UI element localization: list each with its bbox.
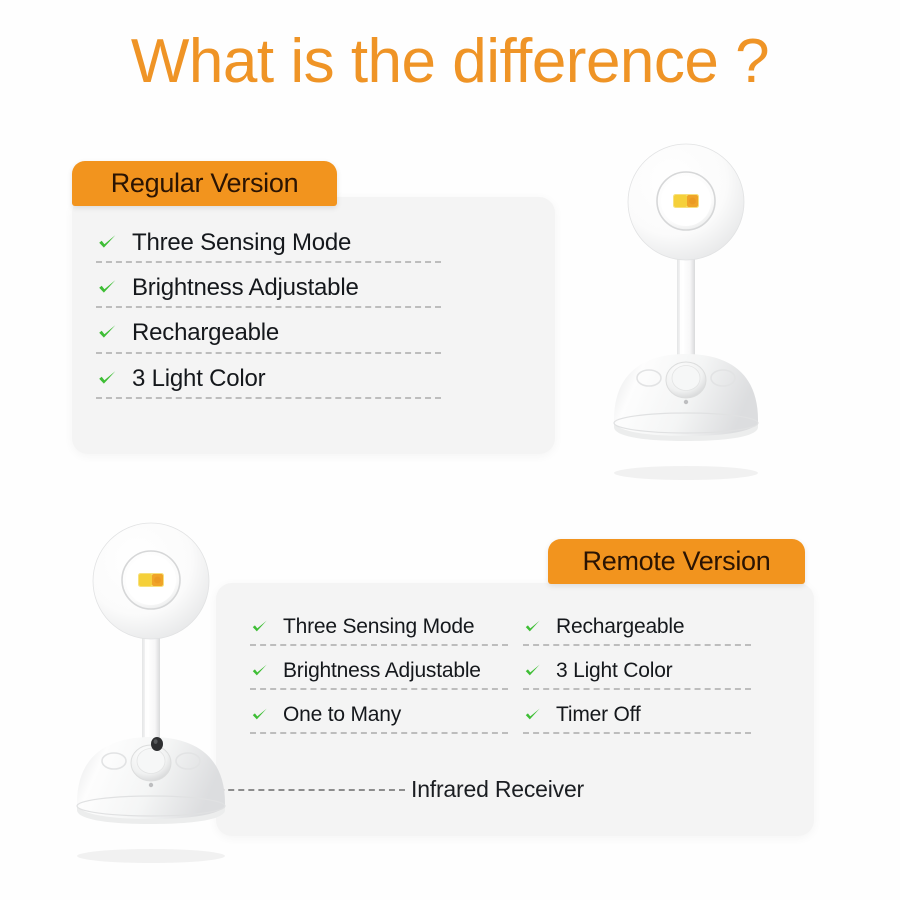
list-item: Rechargeable — [523, 614, 751, 646]
list-item: 3 Light Color — [523, 658, 751, 690]
check-icon — [523, 705, 542, 724]
list-item: Timer Off — [523, 702, 751, 734]
remote-feature-list: Three Sensing Mode Brightness Adjustable… — [250, 614, 795, 746]
regular-version-badge: Regular Version — [72, 161, 337, 206]
check-icon — [250, 617, 269, 636]
list-item-label: Three Sensing Mode — [283, 616, 474, 638]
check-icon — [96, 276, 118, 298]
list-item-label: Rechargeable — [132, 320, 279, 345]
check-icon — [523, 617, 542, 636]
remote-version-badge-label: Remote Version — [583, 546, 771, 577]
infrared-receiver-label: Infrared Receiver — [411, 776, 584, 803]
regular-feature-list: Three Sensing Mode Brightness Adjustable… — [96, 228, 441, 399]
check-icon — [250, 661, 269, 680]
list-item-label: 3 Light Color — [132, 366, 265, 391]
list-item: Brightness Adjustable — [96, 273, 441, 308]
list-item-label: Timer Off — [556, 704, 641, 726]
remote-feature-column-right: Rechargeable 3 Light Color Timer Off — [523, 614, 751, 746]
list-item-label: Brightness Adjustable — [283, 660, 481, 682]
page-title: What is the difference ? — [0, 26, 900, 97]
regular-lamp-image — [596, 140, 776, 480]
check-icon — [96, 321, 118, 343]
list-item-label: 3 Light Color — [556, 660, 672, 682]
list-item: One to Many — [250, 702, 508, 734]
list-item: Three Sensing Mode — [96, 228, 441, 263]
list-item: 3 Light Color — [96, 364, 441, 399]
check-icon — [96, 231, 118, 253]
list-item-label: Rechargeable — [556, 616, 684, 638]
regular-version-badge-label: Regular Version — [111, 168, 299, 199]
check-icon — [96, 367, 118, 389]
check-icon — [250, 705, 269, 724]
list-item-label: Three Sensing Mode — [132, 230, 351, 255]
list-item: Rechargeable — [96, 318, 441, 353]
list-item-label: One to Many — [283, 704, 401, 726]
remote-lamp-image — [56, 518, 246, 863]
check-icon — [523, 661, 542, 680]
remote-feature-column-left: Three Sensing Mode Brightness Adjustable… — [250, 614, 508, 746]
list-item-label: Brightness Adjustable — [132, 275, 359, 300]
list-item: Brightness Adjustable — [250, 658, 508, 690]
remote-version-badge: Remote Version — [548, 539, 805, 584]
list-item: Three Sensing Mode — [250, 614, 508, 646]
infographic-root: What is the difference ? Regular Version… — [0, 0, 900, 900]
